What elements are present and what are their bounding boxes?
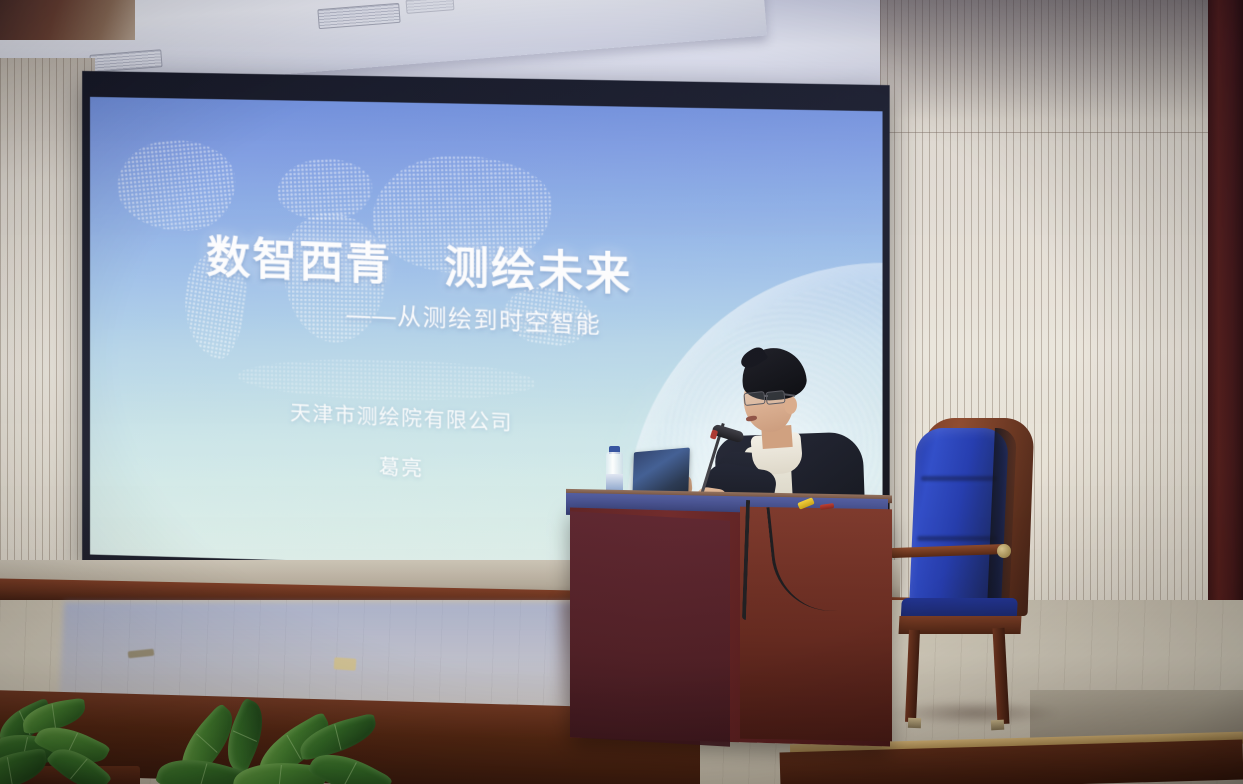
chair-arm-knob [997,544,1011,558]
slide-presenter-block: 天津市测绘院有限公司 葛亮 [238,395,566,490]
slide-title-right: 测绘未来 [444,230,632,303]
chair [895,418,1045,718]
water-bottle-label [606,474,623,490]
wall-panel-left [0,58,95,628]
chair-leg [905,630,920,722]
presenter-name: 葛亮 [238,444,566,489]
slide-subtitle: ——从测绘到时空智能 [347,294,602,340]
plant-center [148,718,378,784]
glasses-bridge [764,395,768,397]
chair-leg [992,628,1009,724]
glasses-icon [743,391,765,406]
chair-foot-cap [991,720,1005,731]
conference-hall-photo: 数智西青 测绘未来 ——从测绘到时空智能 天津市测绘院有限公司 葛亮 [0,0,1243,784]
ceiling-corner-shadow [0,0,135,40]
floor-debris [334,657,357,671]
wall-seam [885,132,1215,133]
chair-foot-cap [908,718,921,728]
wall-shadow [880,0,1220,120]
glasses-icon [765,390,785,405]
slide-title-row: 数智西青 测绘未来 [206,221,766,309]
slide-title-left: 数智西青 [206,221,392,293]
chair-tuft-seam [921,476,997,481]
chair-tuft-seam [917,536,997,541]
presenter-organization: 天津市测绘院有限公司 [238,395,566,440]
podium-left-face [570,511,730,747]
